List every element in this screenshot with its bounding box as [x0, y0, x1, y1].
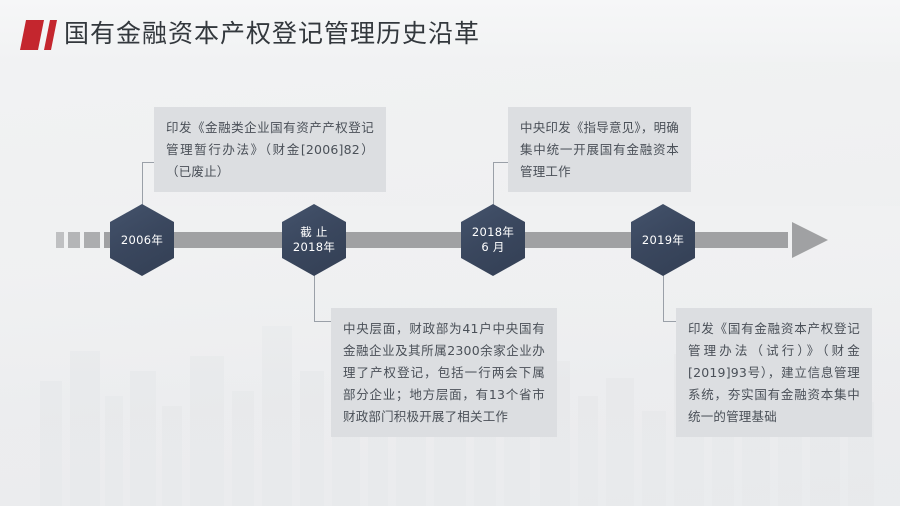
page-title: 国有金融资本产权登记管理历史沿革	[64, 18, 480, 50]
timeline-card-2018-06: 中央印发《指导意见》，明确集中统一开展国有金融资本管理工作	[508, 107, 691, 192]
red-double-slash-icon	[20, 20, 62, 50]
timeline-card-2006: 印发《金融类企业国有资产产权登记管理暂行办法》（财金[2006]82）（已废止）	[154, 107, 386, 192]
timeline-arrow-head-icon	[792, 222, 828, 258]
page-header: 国有金融资本产权登记管理历史沿革	[0, 0, 900, 62]
timeline-node-label: 2018年 6 月	[472, 225, 514, 255]
timeline-node-label: 截 止 2018年	[293, 225, 335, 255]
timeline-card-cutoff-2018: 中央层面，财政部为41户中央国有金融企业及其所属2300余家企业办理了产权登记，…	[331, 308, 557, 437]
timeline-node-label: 2019年	[642, 233, 684, 248]
timeline-node-label: 2006年	[121, 233, 163, 248]
timeline-card-2019: 印发《国有金融资本产权登记管理办法（试行）》（财金[2019]93号），建立信息…	[676, 308, 872, 437]
